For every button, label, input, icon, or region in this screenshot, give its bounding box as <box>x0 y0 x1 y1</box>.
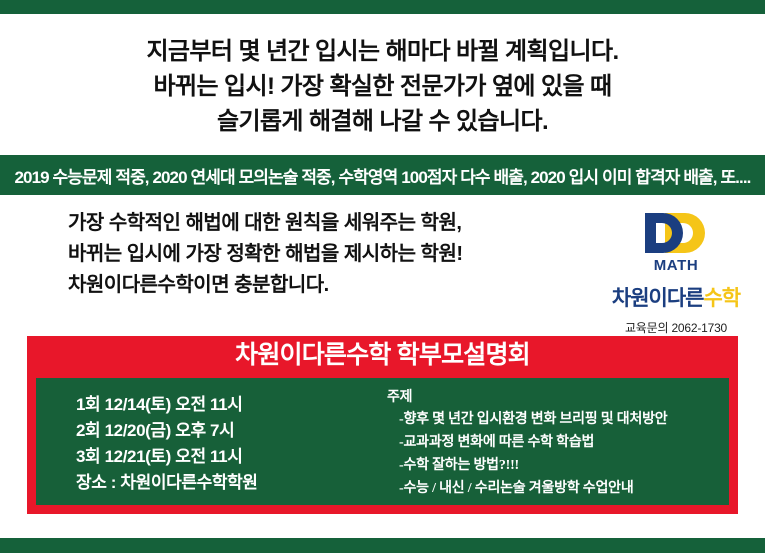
seminar-body: 1회 12/14(토) 오전 11시 2회 12/20(금) 오후 7시 3회 … <box>36 378 729 505</box>
brand-logo-block: MATH 차원이다른수학 교육문의 2062-1730 <box>588 210 764 336</box>
achievement-strip: 2019 수능문제 적중, 2020 연세대 모의논술 적중, 수학영역 100… <box>0 155 765 195</box>
midcopy-line-3: 차원이다른수학이면 충분합니다. <box>68 270 588 301</box>
midcopy-line-1: 가장 수학적인 해법에 대한 원칙을 세워주는 학원, <box>68 208 588 239</box>
double-d-logo-icon <box>639 210 713 256</box>
headline-line-3: 슬기롭게 해결해 나갈 수 있습니다. <box>0 104 765 139</box>
topic-list-heading: 주제 <box>387 388 729 408</box>
poster-root: 지금부터 몇 년간 입시는 해마다 바뀔 계획입니다. 바뀌는 입시! 가장 확… <box>0 0 765 553</box>
seminar-title: 차원이다른수학 학부모설명회 <box>27 336 738 375</box>
brand-name-blue: 차원이다른 <box>612 287 704 310</box>
bottom-green-rule <box>0 538 765 553</box>
top-green-rule <box>0 0 765 14</box>
venue-line: 장소 : 차원이다른수학학원 <box>76 470 381 496</box>
list-item: 1회 12/14(토) 오전 11시 <box>76 392 381 418</box>
seminar-panel: 차원이다른수학 학부모설명회 1회 12/14(토) 오전 11시 2회 12/… <box>27 336 738 514</box>
contact-phone: 교육문의 2062-1730 <box>588 319 764 336</box>
list-item: 3회 12/21(토) 오전 11시 <box>76 444 381 470</box>
achievement-text: 2019 수능문제 적중, 2020 연세대 모의논술 적중, 수학영역 100… <box>9 163 757 188</box>
midcopy-block: 가장 수학적인 해법에 대한 원칙을 세워주는 학원, 바뀌는 입시에 가장 정… <box>68 208 588 301</box>
logo-mark-word: MATH <box>588 257 764 274</box>
list-item: -수학 잘하는 방법?!!! <box>387 454 729 477</box>
brand-name: 차원이다른수학 <box>588 282 764 312</box>
headline-line-1: 지금부터 몇 년간 입시는 해마다 바뀔 계획입니다. <box>0 34 765 69</box>
topic-list: 주제 -향후 몇 년간 입시환경 변화 브리핑 및 대처방안 -교과과정 변화에… <box>381 378 729 505</box>
midcopy-line-2: 바뀌는 입시에 가장 정확한 해법을 제시하는 학원! <box>68 239 588 270</box>
list-item: -교과과정 변화에 따른 수학 학습법 <box>387 431 729 454</box>
brand-name-gold: 수학 <box>703 287 740 310</box>
headline-line-2: 바뀌는 입시! 가장 확실한 전문가가 옆에 있을 때 <box>0 69 765 104</box>
list-item: 2회 12/20(금) 오후 7시 <box>76 418 381 444</box>
session-list: 1회 12/14(토) 오전 11시 2회 12/20(금) 오후 7시 3회 … <box>36 378 381 505</box>
headline-block: 지금부터 몇 년간 입시는 해마다 바뀔 계획입니다. 바뀌는 입시! 가장 확… <box>0 34 765 139</box>
list-item: -향후 몇 년간 입시환경 변화 브리핑 및 대처방안 <box>387 408 729 431</box>
list-item: -수능 / 내신 / 수리논술 겨울방학 수업안내 <box>387 477 729 500</box>
